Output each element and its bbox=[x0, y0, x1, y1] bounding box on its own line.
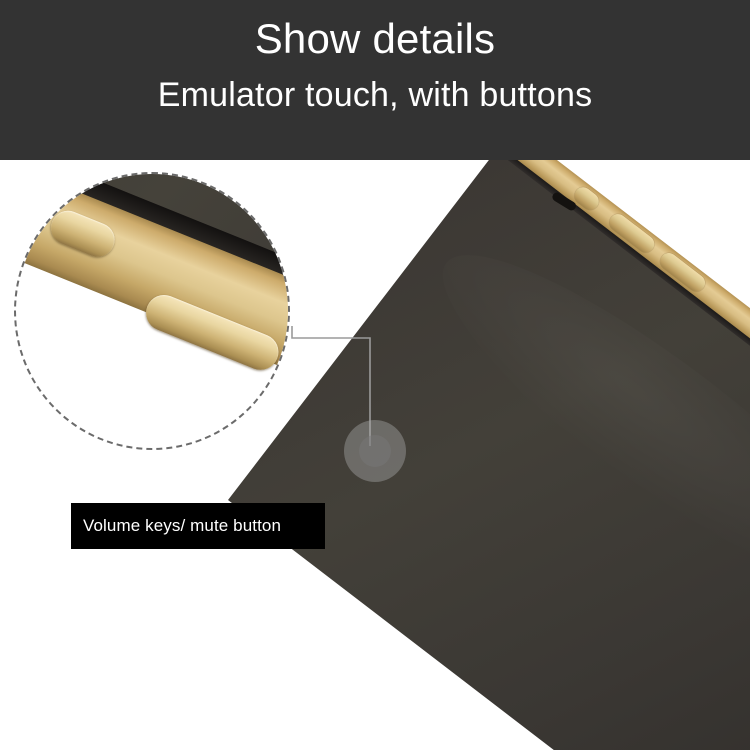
touch-indicator-core bbox=[359, 435, 391, 467]
caption-text: Volume keys/ mute button bbox=[83, 516, 281, 536]
page-subtitle: Emulator touch, with buttons bbox=[158, 75, 593, 116]
product-photo-stage: Volume keys/ mute button bbox=[0, 160, 750, 750]
header-band: Show details Emulator touch, with button… bbox=[0, 0, 750, 160]
detail-zoom-circle bbox=[14, 172, 290, 450]
caption-label: Volume keys/ mute button bbox=[71, 503, 325, 549]
smartphone-image bbox=[228, 160, 750, 750]
touch-indicator bbox=[344, 420, 406, 482]
page-title: Show details bbox=[255, 14, 496, 64]
zoom-magnified-content bbox=[14, 172, 290, 450]
product-detail-slide: Show details Emulator touch, with button… bbox=[0, 0, 750, 750]
